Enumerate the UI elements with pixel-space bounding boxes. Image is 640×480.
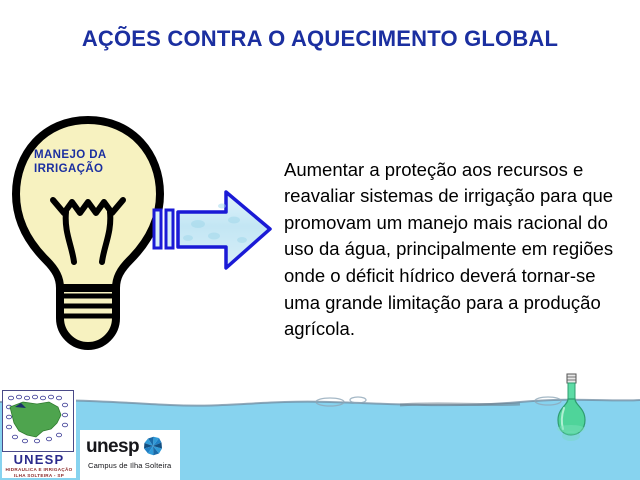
- sao-paulo-map-box: [2, 390, 74, 452]
- arrow-graphic: [152, 184, 274, 276]
- logo-unesp-campus-label: Campus de Ilha Solteira: [88, 461, 176, 470]
- right-arrow-icon: [152, 184, 274, 276]
- slide-canvas: AÇÕES CONTRA O AQUECIMENTO GLOBAL MANEJO…: [0, 0, 640, 480]
- pinwheel-icon: [142, 435, 164, 457]
- logo-hidraulica-line1: HIDRAULICA E IRRIGAÇÃO: [2, 467, 76, 473]
- logo-hidraulica-wordmark: UNESP: [2, 453, 76, 467]
- bottle-graphic: [548, 372, 594, 444]
- logo-unesp-campus: unesp Campus de Ilha Solteira: [80, 430, 180, 480]
- page-title: AÇÕES CONTRA O AQUECIMENTO GLOBAL: [0, 26, 640, 52]
- body-paragraph: Aumentar a proteção aos recursos e reava…: [284, 157, 634, 343]
- logo-hidraulica-irrigacao: UNESP HIDRAULICA E IRRIGAÇÃO ILHA SOLTEI…: [2, 390, 76, 478]
- floating-bottle-icon: [548, 372, 594, 444]
- logo-hidraulica-line2: ILHA SOLTEIRA - SP: [2, 473, 76, 479]
- lightbulb-graphic: MANEJO DA IRRIGAÇÃO: [8, 112, 168, 352]
- sao-paulo-map-icon: [3, 391, 73, 451]
- lightbulb-label: MANEJO DA IRRIGAÇÃO: [34, 148, 150, 177]
- logo-unesp-wordmark: unesp: [86, 437, 139, 456]
- logo-unesp-row: unesp: [86, 435, 176, 457]
